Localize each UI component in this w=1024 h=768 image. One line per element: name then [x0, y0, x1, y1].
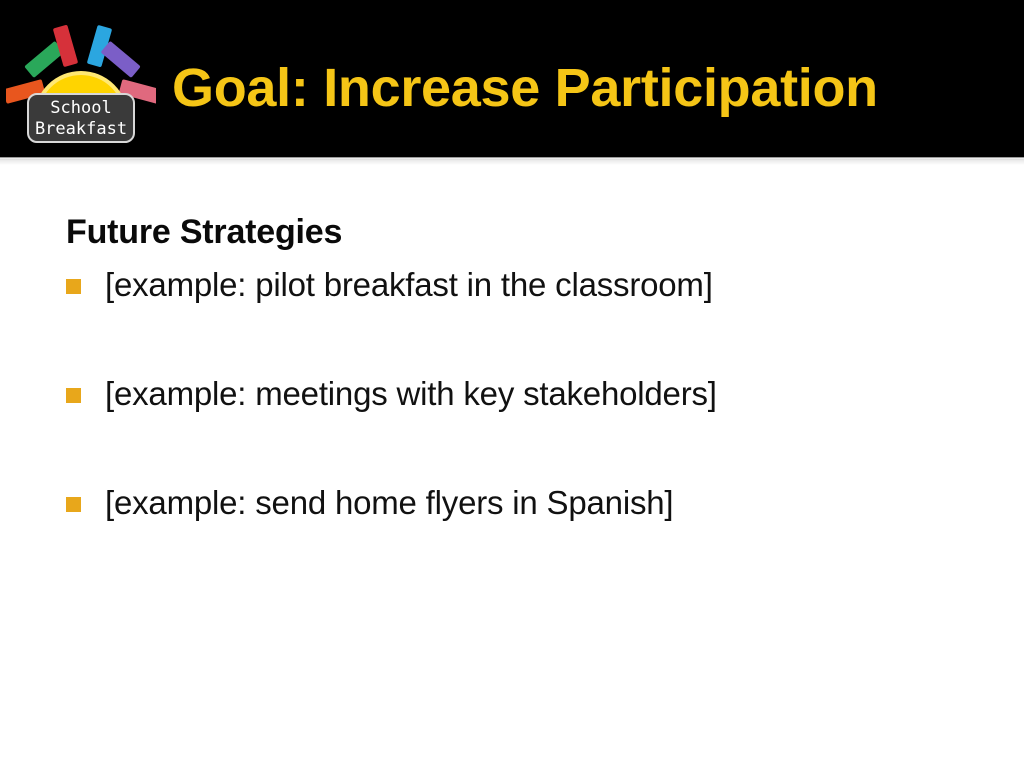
list-item: [example: send home flyers in Spanish]: [66, 480, 986, 526]
list-item: [example: meetings with key stakeholders…: [66, 371, 986, 417]
school-breakfast-logo: School Breakfast: [6, 18, 156, 148]
list-item: [example: pilot breakfast in the classro…: [66, 262, 986, 308]
presentation-slide: School Breakfast Goal: Increase Particip…: [0, 0, 1024, 768]
list-item-label: [example: send home flyers in Spanish]: [105, 484, 673, 521]
logo-sign-line2: Breakfast: [35, 119, 127, 139]
square-bullet-icon: [66, 497, 81, 512]
slide-title: Goal: Increase Participation: [172, 52, 1002, 124]
list-item-label: [example: meetings with key stakeholders…: [105, 375, 717, 412]
square-bullet-icon: [66, 279, 81, 294]
body-heading: Future Strategies: [66, 210, 986, 254]
logo-sign-line1: School: [50, 98, 111, 118]
header-divider-shadow: [0, 160, 1024, 165]
strategies-bullet-list: [example: pilot breakfast in the classro…: [66, 262, 986, 526]
square-bullet-icon: [66, 388, 81, 403]
ray-purple: [101, 41, 141, 78]
slide-body: Future Strategies [example: pilot breakf…: [66, 210, 986, 526]
list-item-label: [example: pilot breakfast in the classro…: [105, 266, 713, 303]
